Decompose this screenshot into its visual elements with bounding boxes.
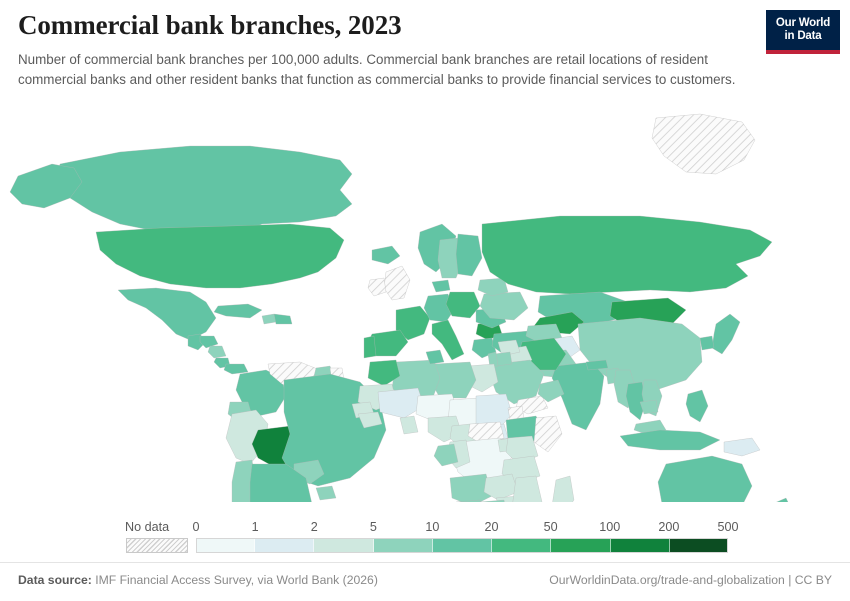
- legend-tick-20: 20: [485, 520, 499, 534]
- country-portugal[interactable]: [364, 336, 376, 358]
- country-cuba[interactable]: [214, 304, 262, 318]
- country-madagascar[interactable]: [552, 476, 574, 502]
- data-source: Data source: IMF Financial Access Survey…: [18, 573, 378, 587]
- world-map-svg[interactable]: [0, 112, 850, 502]
- country-philippines[interactable]: [686, 390, 708, 422]
- country-poland[interactable]: [446, 292, 480, 318]
- legend-bin-8[interactable]: [670, 538, 728, 553]
- legend-bin-5[interactable]: [492, 538, 551, 553]
- legend-bins[interactable]: [196, 538, 728, 553]
- country-south-korea[interactable]: [700, 336, 714, 350]
- legend-bin-7[interactable]: [611, 538, 670, 553]
- chart-header: Commercial bank branches, 2023 Number of…: [18, 10, 758, 90]
- legend-bin-3[interactable]: [374, 538, 433, 553]
- country-dominican-republic[interactable]: [274, 314, 292, 324]
- country-russia[interactable]: [482, 216, 772, 294]
- country-ghana[interactable]: [400, 416, 418, 434]
- country-somalia[interactable]: [534, 416, 562, 452]
- country-japan[interactable]: [712, 314, 740, 354]
- owid-map-chart: Commercial bank branches, 2023 Number of…: [0, 0, 850, 600]
- legend-tick-2: 2: [311, 520, 318, 534]
- country-canada[interactable]: [56, 146, 352, 238]
- country-papua-new-guinea[interactable]: [724, 438, 760, 456]
- logo-line-2: in Data: [785, 30, 822, 43]
- country-mozambique[interactable]: [512, 476, 542, 502]
- legend-bin-1[interactable]: [255, 538, 314, 553]
- world-map[interactable]: [0, 112, 850, 502]
- country-australia[interactable]: [658, 456, 752, 502]
- country-ireland[interactable]: [368, 278, 386, 296]
- legend-tick-5: 5: [370, 520, 377, 534]
- legend-tick-0: 0: [192, 520, 199, 534]
- owid-credit[interactable]: OurWorldinData.org/trade-and-globalizati…: [549, 573, 832, 587]
- country-indonesia[interactable]: [620, 430, 720, 450]
- legend-bin-2[interactable]: [314, 538, 373, 553]
- country-iceland[interactable]: [372, 246, 400, 264]
- legend-tick-100: 100: [599, 520, 620, 534]
- legend-tick-500: 500: [717, 520, 738, 534]
- country-gabon[interactable]: [434, 444, 458, 466]
- page-title: Commercial bank branches, 2023: [18, 10, 758, 41]
- data-source-label: Data source:: [18, 573, 92, 587]
- legend-bin-0[interactable]: [196, 538, 255, 553]
- country-panama[interactable]: [224, 364, 248, 374]
- legend-bin-6[interactable]: [551, 538, 610, 553]
- country-greenland[interactable]: [652, 114, 755, 174]
- country-uruguay[interactable]: [316, 486, 336, 500]
- map-legend: No data 0125102050100200500: [0, 508, 850, 554]
- country-finland[interactable]: [456, 234, 482, 276]
- legend-tick-200: 200: [658, 520, 679, 534]
- chart-footer: Data source: IMF Financial Access Survey…: [0, 562, 850, 601]
- legend-tick-1: 1: [252, 520, 259, 534]
- no-data-label: No data: [125, 520, 169, 534]
- country-nicaragua[interactable]: [208, 346, 226, 358]
- country-alaska[interactable]: [10, 164, 82, 208]
- chart-subtitle: Number of commercial bank branches per 1…: [18, 50, 740, 90]
- country-denmark[interactable]: [432, 280, 450, 292]
- country-new-zealand[interactable]: [766, 498, 792, 502]
- owid-logo[interactable]: Our World in Data: [766, 10, 840, 54]
- country-mexico[interactable]: [118, 288, 216, 340]
- legend-bin-4[interactable]: [433, 538, 492, 553]
- no-data-swatch[interactable]: [126, 538, 188, 553]
- country-haiti[interactable]: [262, 314, 276, 324]
- legend-tick-10: 10: [425, 520, 439, 534]
- country-united-kingdom[interactable]: [384, 266, 410, 300]
- country-united-states[interactable]: [96, 224, 344, 288]
- legend-tick-50: 50: [544, 520, 558, 534]
- data-source-text: IMF Financial Access Survey, via World B…: [95, 573, 378, 587]
- logo-line-1: Our World: [776, 17, 830, 30]
